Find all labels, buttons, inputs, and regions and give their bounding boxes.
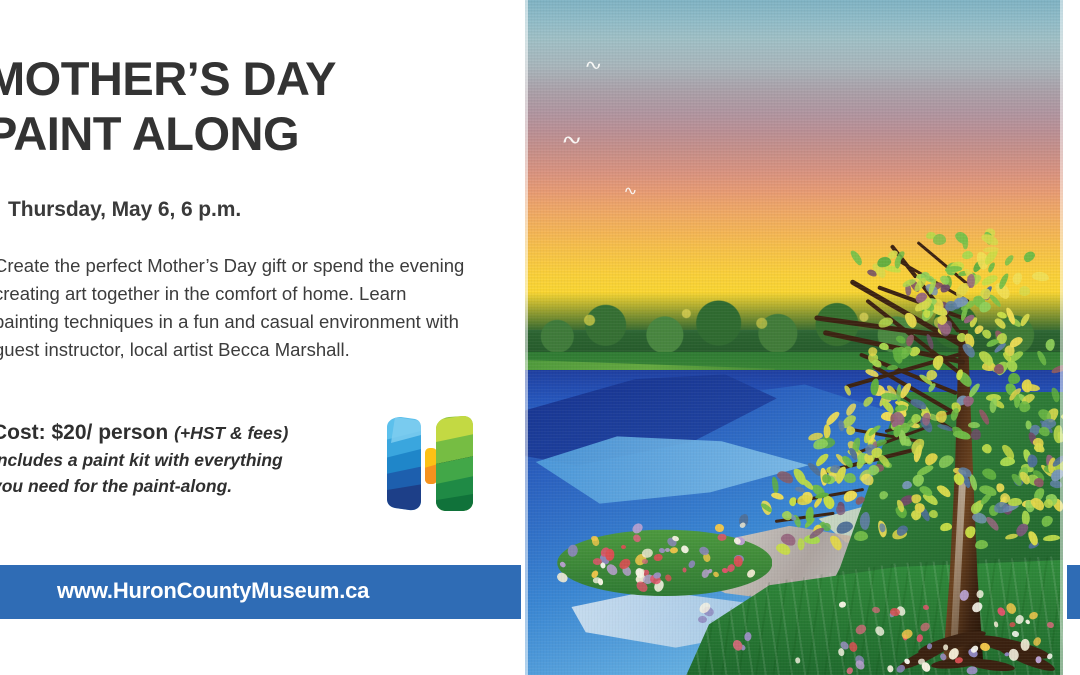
poster: MOTHER’S DAY PAINT ALONG Thursday, May 6… <box>0 0 1080 675</box>
cost-note-line-1: Includes a paint kit with everything <box>0 449 352 473</box>
wildflower <box>887 665 894 673</box>
gull-icon: ∿ <box>583 57 604 74</box>
leaf <box>983 246 999 252</box>
leaf <box>932 234 945 245</box>
sunset-river-tree-painting: ∿ ∿ ∿ <box>525 0 1063 675</box>
wildflower <box>682 567 686 572</box>
cost-block: Cost: $20/ person (+HST & fees) Includes… <box>0 420 352 498</box>
wildflower <box>734 555 743 566</box>
headline-line-2: PAINT ALONG <box>0 107 526 162</box>
event-date: Thursday, May 6, 6 p.m. <box>8 198 528 222</box>
cost-line: Cost: $20/ person (+HST & fees) <box>0 420 352 447</box>
huron-county-logo <box>381 413 477 515</box>
wildflower <box>593 558 602 565</box>
canvas-right-edge <box>1060 0 1063 675</box>
text-panel: MOTHER’S DAY PAINT ALONG Thursday, May 6… <box>0 0 525 675</box>
accent-leaf <box>1027 454 1037 467</box>
website-url[interactable]: www.HuronCountyMuseum.ca <box>57 578 369 604</box>
event-description: Create the perfect Mother’s Day gift or … <box>0 252 474 364</box>
cost-label: Cost: $20/ person <box>0 421 168 444</box>
canvas-left-edge <box>525 0 528 675</box>
headline-line-1: MOTHER’S DAY <box>0 52 336 105</box>
wildflower <box>642 559 648 564</box>
cost-note-line-2: you need for the paint-along. <box>0 475 352 499</box>
cost-fees: (+HST & fees) <box>174 423 288 443</box>
wildflower <box>795 657 800 663</box>
page-title: MOTHER’S DAY PAINT ALONG <box>0 52 526 161</box>
wildflower <box>698 616 707 623</box>
wildflower <box>658 547 665 553</box>
accent-leaf <box>859 511 870 529</box>
gull-icon: ∿ <box>623 185 638 199</box>
wildflower <box>966 665 977 674</box>
wildflower <box>1008 648 1019 661</box>
website-banner-right-edge <box>1067 565 1080 619</box>
logo-mark-icon <box>381 413 477 515</box>
